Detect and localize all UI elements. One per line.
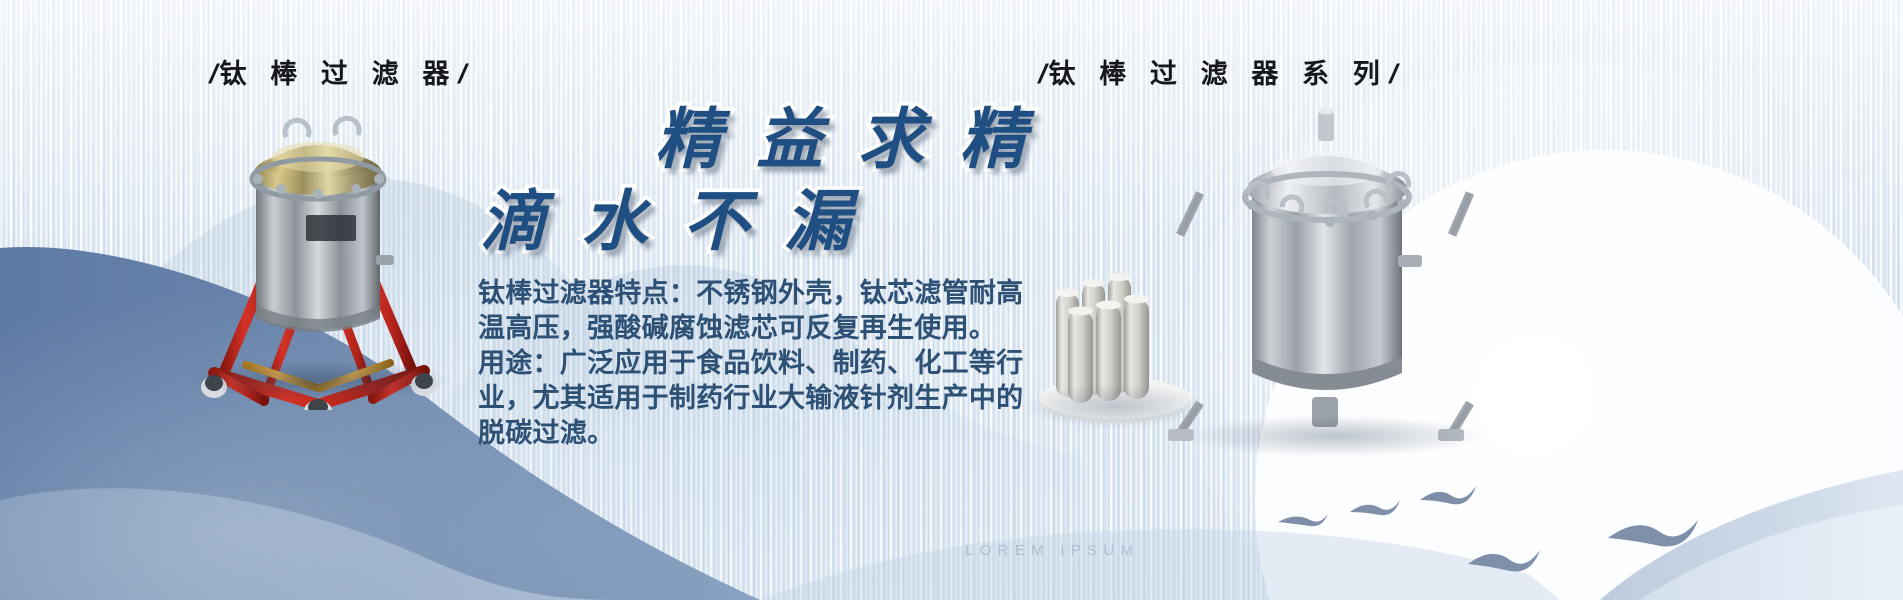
kicker-right: /钛 棒 过 滤 器 系 列/: [1037, 52, 1399, 91]
description-line-1: 钛棒过滤器特点：不锈钢外壳，钛芯滤管耐高: [478, 276, 1208, 311]
watermark-text: LOREM IPSUM: [965, 542, 1139, 559]
description-line-3: 用途：广泛应用于食品饮料、制药、化工等行: [478, 346, 1208, 381]
left-product-shadow: [186, 360, 454, 400]
vessel-nameplate: [306, 215, 356, 241]
kicker-left: /钛 棒 过 滤 器/: [208, 52, 469, 91]
left-product-image: [168, 105, 468, 410]
promo-banner: /钛 棒 过 滤 器/ /钛 棒 过 滤 器 系 列/ 精 益 求 精 滴 水 …: [0, 0, 1903, 600]
headline-line-2: 滴 水 不 漏: [480, 168, 859, 264]
right-product-shadow: [1180, 415, 1490, 457]
description-line-4: 业，尤其适用于制药行业大输液针剂生产中的: [478, 381, 1208, 416]
kicker-right-label: 钛 棒 过 滤 器 系 列: [1049, 59, 1388, 89]
birds-silhouettes: [1270, 480, 1730, 600]
description-line-2: 温高压，强酸碱腐蚀滤芯可反复再生使用。: [478, 311, 1208, 346]
kicker-left-label: 钛 棒 过 滤 器: [220, 59, 458, 89]
description-line-5: 脱碳过滤。: [478, 416, 1208, 451]
lid-handles: [285, 118, 359, 137]
vent-stack: [1318, 111, 1334, 141]
product-description: 钛棒过滤器特点：不锈钢外壳，钛芯滤管耐高 温高压，强酸碱腐蚀滤芯可反复再生使用。…: [478, 276, 1208, 451]
